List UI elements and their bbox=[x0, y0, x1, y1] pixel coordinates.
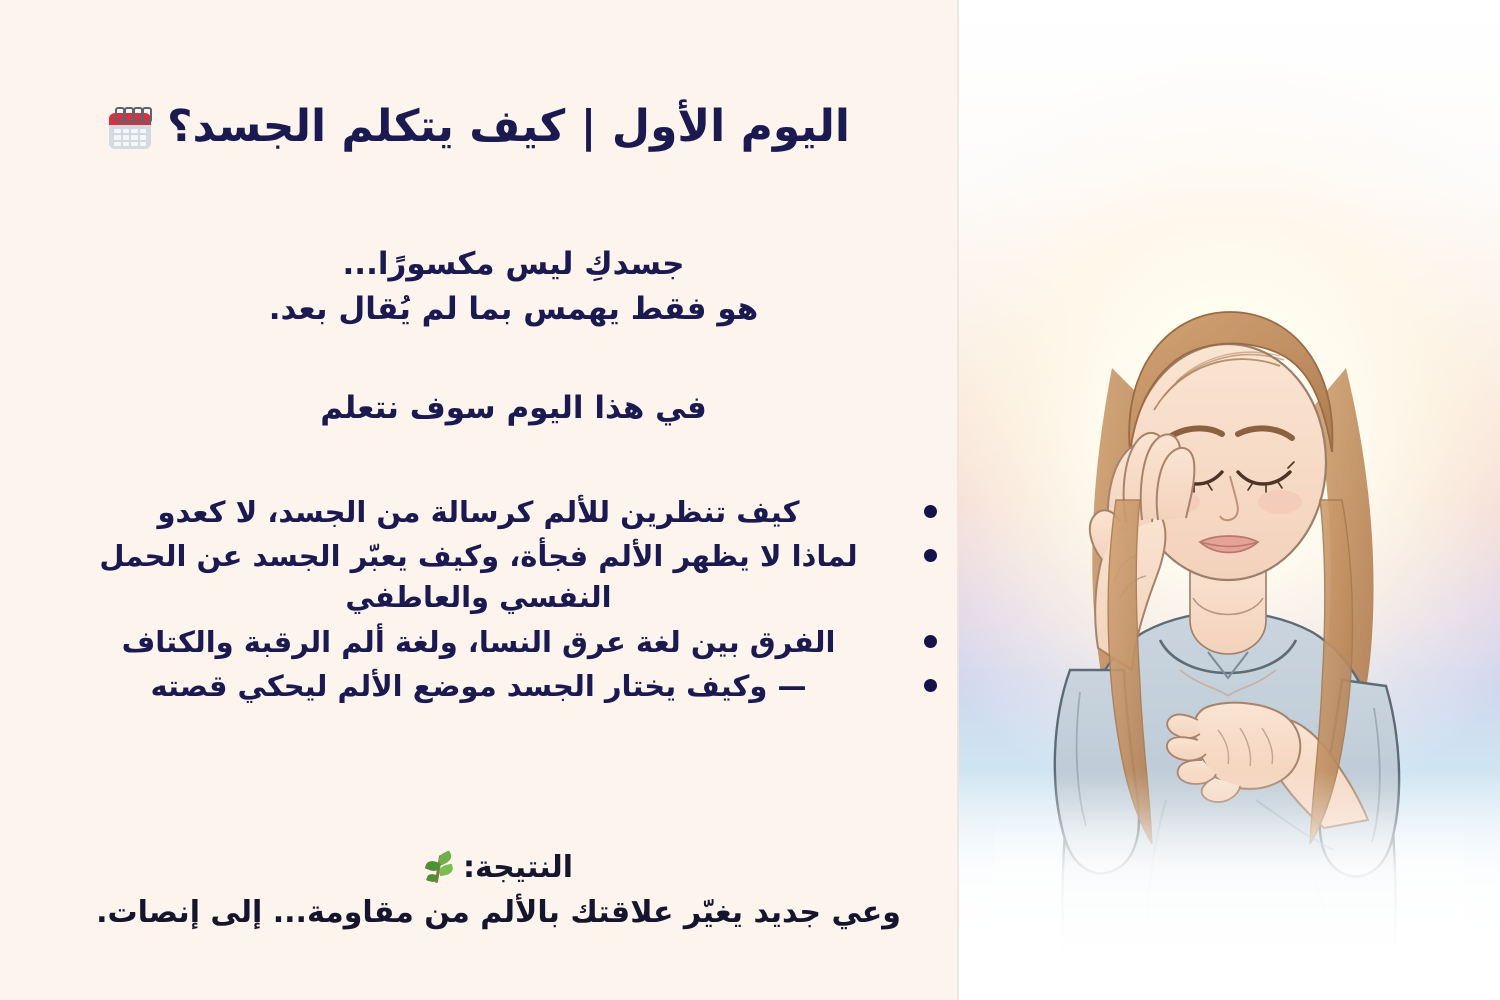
intro-line-2: هو فقط يهمس بما لم يُقال بعد. bbox=[0, 287, 957, 332]
list-item-text: لماذا لا يظهر الألم فجأة، وكيف يعبّر الج… bbox=[99, 539, 857, 614]
list-item: لماذا لا يظهر الألم فجأة، وكيف يعبّر الج… bbox=[60, 536, 937, 618]
list-item: — وكيف يختار الجسد موضع الألم ليحكي قصته bbox=[60, 666, 937, 707]
calendar-emoji bbox=[107, 104, 153, 150]
list-item-text: كيف تنظرين للألم كرسالة من الجسد، لا كعد… bbox=[158, 495, 800, 529]
conclusion-text: وعي جديد يغيّر علاقتك بالألم من مقاومة..… bbox=[40, 890, 957, 935]
calendar-grid bbox=[114, 129, 146, 146]
poster-canvas: اليوم الأول | كيف يتكلم الجسد؟ جسدكِ ليس… bbox=[0, 0, 1500, 1000]
intro-block: جسدكِ ليس مكسورًا... هو فقط يهمس بما لم … bbox=[0, 242, 957, 332]
list-item-text: — وكيف يختار الجسد موضع الألم ليحكي قصته bbox=[150, 669, 806, 703]
title-row: اليوم الأول | كيف يتكلم الجسد؟ bbox=[30, 70, 927, 184]
bullet-dot-icon bbox=[924, 679, 937, 692]
conclusion-header: النتيجة: bbox=[40, 845, 957, 890]
list-item: كيف تنظرين للألم كرسالة من الجسد، لا كعد… bbox=[60, 492, 937, 533]
intro-line-1: جسدكِ ليس مكسورًا... bbox=[0, 242, 957, 287]
learning-points-list: كيف تنظرين للألم كرسالة من الجسد، لا كعد… bbox=[60, 492, 937, 710]
list-item: الفرق بين لغة عرق النسا، ولغة ألم الرقبة… bbox=[60, 622, 937, 663]
panel-divider bbox=[957, 0, 959, 1000]
conclusion-block: النتيجة: وعي جديد يغيّر علاقتك بالألم من… bbox=[0, 845, 957, 935]
learn-heading: في هذا اليوم سوف نتعلم bbox=[0, 390, 957, 426]
bullet-dot-icon bbox=[924, 549, 937, 562]
page-title: اليوم الأول | كيف يتكلم الجسد؟ bbox=[167, 99, 850, 154]
conclusion-label: النتيجة: bbox=[463, 845, 573, 890]
herb-emoji bbox=[424, 851, 454, 885]
list-item-text: الفرق بين لغة عرق النسا، ولغة ألم الرقبة… bbox=[122, 625, 836, 659]
illustration-panel bbox=[957, 0, 1500, 1000]
content-panel: اليوم الأول | كيف يتكلم الجسد؟ جسدكِ ليس… bbox=[0, 0, 957, 1000]
calendar-ring bbox=[142, 107, 152, 123]
bullet-dot-icon bbox=[924, 505, 937, 518]
bullet-dot-icon bbox=[924, 635, 937, 648]
bottom-fade bbox=[957, 770, 1500, 1000]
